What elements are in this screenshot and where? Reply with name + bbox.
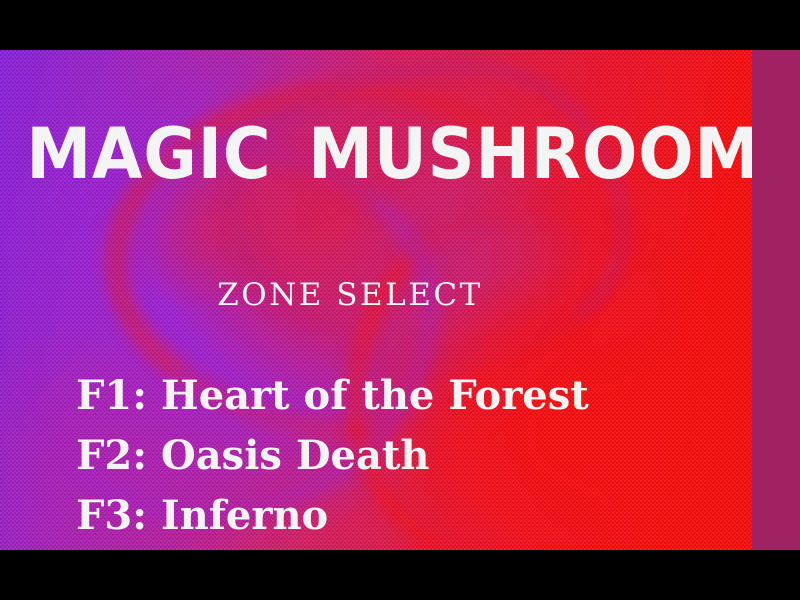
game-frame: MAGIC MUSHROOM ZONE SELECT F1: Heart of … xyxy=(0,50,800,550)
zone-menu-item-f3[interactable]: F3: Inferno xyxy=(76,486,589,546)
right-edge-strip xyxy=(752,50,800,550)
zone-select-heading: ZONE SELECT xyxy=(0,278,700,312)
zone-menu-item-f1[interactable]: F1: Heart of the Forest xyxy=(76,366,589,426)
menu-content: MAGIC MUSHROOM ZONE SELECT F1: Heart of … xyxy=(0,50,752,550)
zone-menu-list: F1: Heart of the Forest F2: Oasis Death … xyxy=(76,366,589,546)
page-title: MAGIC MUSHROOM xyxy=(26,118,725,190)
zone-menu-item-f2[interactable]: F2: Oasis Death xyxy=(76,426,589,486)
game-screen: MAGIC MUSHROOM ZONE SELECT F1: Heart of … xyxy=(0,0,800,600)
plasma-background: MAGIC MUSHROOM ZONE SELECT F1: Heart of … xyxy=(0,50,752,550)
